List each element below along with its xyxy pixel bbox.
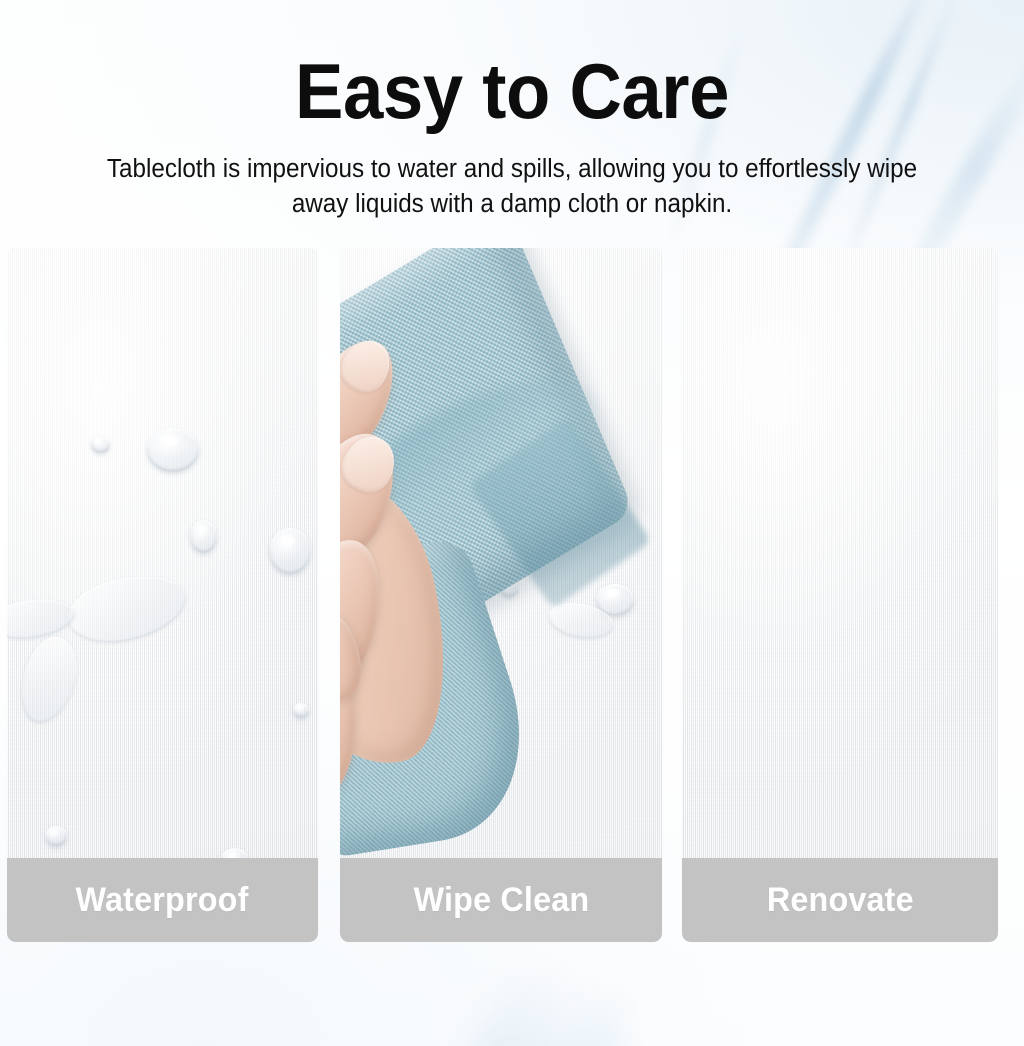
feature-panel-renovate: Renovate (682, 248, 998, 942)
panel-caption-label: Renovate (767, 881, 914, 920)
water-streak-decoration (537, 975, 644, 1046)
feature-panel-waterproof: Waterproof (7, 248, 318, 942)
panel-caption-label: Wipe Clean (413, 881, 589, 920)
product-feature-image: Easy to Care Tablecloth is impervious to… (0, 0, 1024, 1046)
page-title: Easy to Care (36, 48, 988, 134)
page-subtitle: Tablecloth is impervious to water and sp… (85, 152, 940, 222)
panel-caption-bar: Waterproof (7, 858, 318, 942)
panel-caption-label: Waterproof (76, 881, 249, 920)
feature-panel-wipe-clean: Wipe Clean (340, 248, 662, 942)
fabric-texture (682, 248, 998, 942)
panel-caption-bar: Wipe Clean (340, 858, 662, 942)
water-streak-decoration (433, 950, 597, 1046)
water-streak-decoration (832, 0, 965, 290)
panel-caption-bar: Renovate (682, 858, 998, 942)
feature-panel-row: Waterproof (0, 248, 1024, 942)
fabric-texture (340, 248, 662, 942)
fabric-texture (7, 248, 318, 942)
